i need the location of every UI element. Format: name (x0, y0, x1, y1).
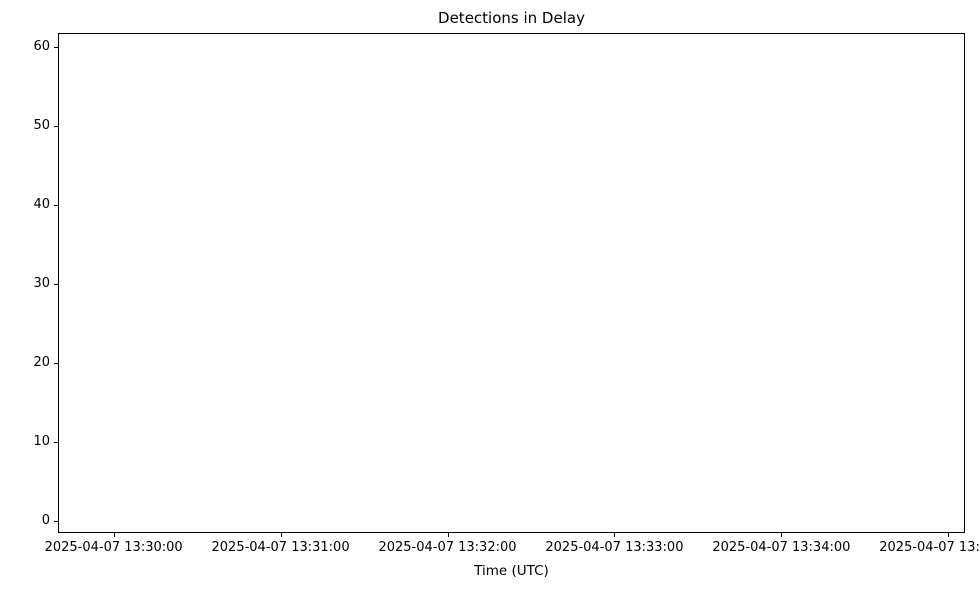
x-axis-tick-label: 2025-04-07 13:34:00 (686, 541, 876, 554)
x-axis-tick-label: 2025-04-07 13:33:00 (519, 541, 709, 554)
x-axis-tick-label: 2025-04-07 13:32:00 (353, 541, 543, 554)
x-axis-tick-label: 2025-04-07 13:31:00 (186, 541, 376, 554)
matplotlib-figure: Detections in Delay 0102030405060 Bistat… (0, 0, 980, 590)
x-axis-tick-label: 2025-04-07 13:30:00 (19, 541, 209, 554)
x-axis-tick-label: 2025-04-07 13:35:00 (853, 541, 980, 554)
x-axis-tick-labels: 2025-04-07 13:30:002025-04-07 13:31:0020… (0, 0, 980, 590)
x-axis-label: Time (UTC) (58, 563, 965, 579)
